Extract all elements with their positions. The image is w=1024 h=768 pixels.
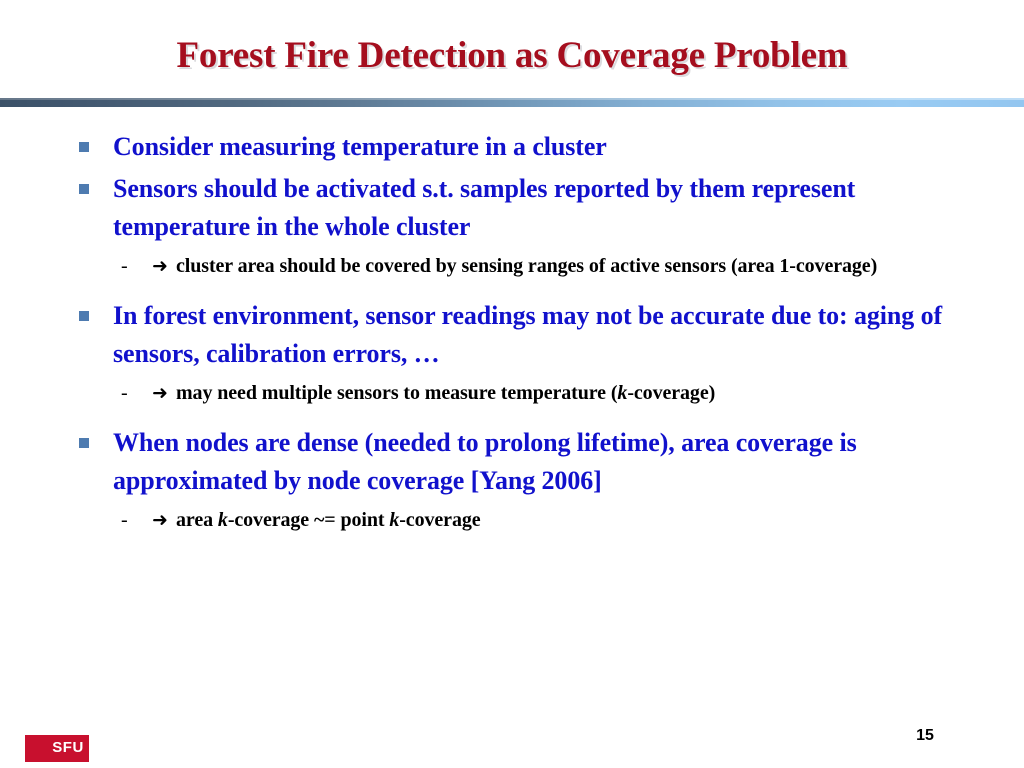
arrow-right-icon: ➜ [152, 378, 168, 408]
bullet-level2: - ➜ may need multiple sensors to measure… [0, 379, 1024, 408]
bullet-level1-label: In forest environment, sensor readings m… [113, 301, 942, 368]
slide-body: Consider measuring temperature in a clus… [0, 128, 1024, 541]
page-title: Forest Fire Detection as Coverage Proble… [0, 34, 1024, 78]
bullet-level2-italic-var-2: k [389, 509, 399, 531]
sfu-logo: SFU [25, 735, 89, 762]
bullet-level1: In forest environment, sensor readings m… [0, 297, 1024, 373]
square-bullet-icon [79, 311, 89, 321]
page-number: 15 [905, 726, 945, 746]
bullet-level2-label-tail: -coverage [399, 509, 480, 531]
dash-marker-icon: - [121, 252, 135, 281]
bullet-level2-italic-var: k [218, 509, 228, 531]
bullet-level1: When nodes are dense (needed to prolong … [0, 424, 1024, 500]
bullet-level2-label: area [176, 509, 218, 531]
square-bullet-icon [79, 438, 89, 448]
bullet-level1: Consider measuring temperature in a clus… [0, 128, 1024, 166]
square-bullet-icon [79, 142, 89, 152]
bullet-level2-italic-var: k [617, 382, 627, 404]
sfu-logo-label: SFU [52, 739, 84, 757]
bullet-level2-label: cluster area should be covered by sensin… [176, 255, 877, 277]
bullet-level2: - ➜ area k-coverage ~= point k-coverage [0, 506, 1024, 535]
square-bullet-icon [79, 184, 89, 194]
bullet-level2-label-mid: -coverage ~= point [228, 509, 390, 531]
section-spacer [0, 414, 1024, 424]
section-spacer [0, 287, 1024, 297]
bullet-level2-label: may need multiple sensors to measure tem… [176, 382, 617, 404]
dash-marker-icon: - [121, 379, 135, 408]
bullet-level1-label: Sensors should be activated s.t. samples… [113, 174, 855, 241]
bullet-level1: Sensors should be activated s.t. samples… [0, 170, 1024, 246]
bullet-level2: - ➜ cluster area should be covered by se… [0, 252, 1024, 281]
arrow-right-icon: ➜ [152, 505, 168, 535]
arrow-right-icon: ➜ [152, 251, 168, 281]
bullet-level1-label: When nodes are dense (needed to prolong … [113, 428, 857, 495]
title-divider-highlight [0, 98, 1024, 100]
dash-marker-icon: - [121, 506, 135, 535]
bullet-level2-label-tail: -coverage) [627, 382, 715, 404]
bullet-level1-label: Consider measuring temperature in a clus… [113, 132, 607, 161]
